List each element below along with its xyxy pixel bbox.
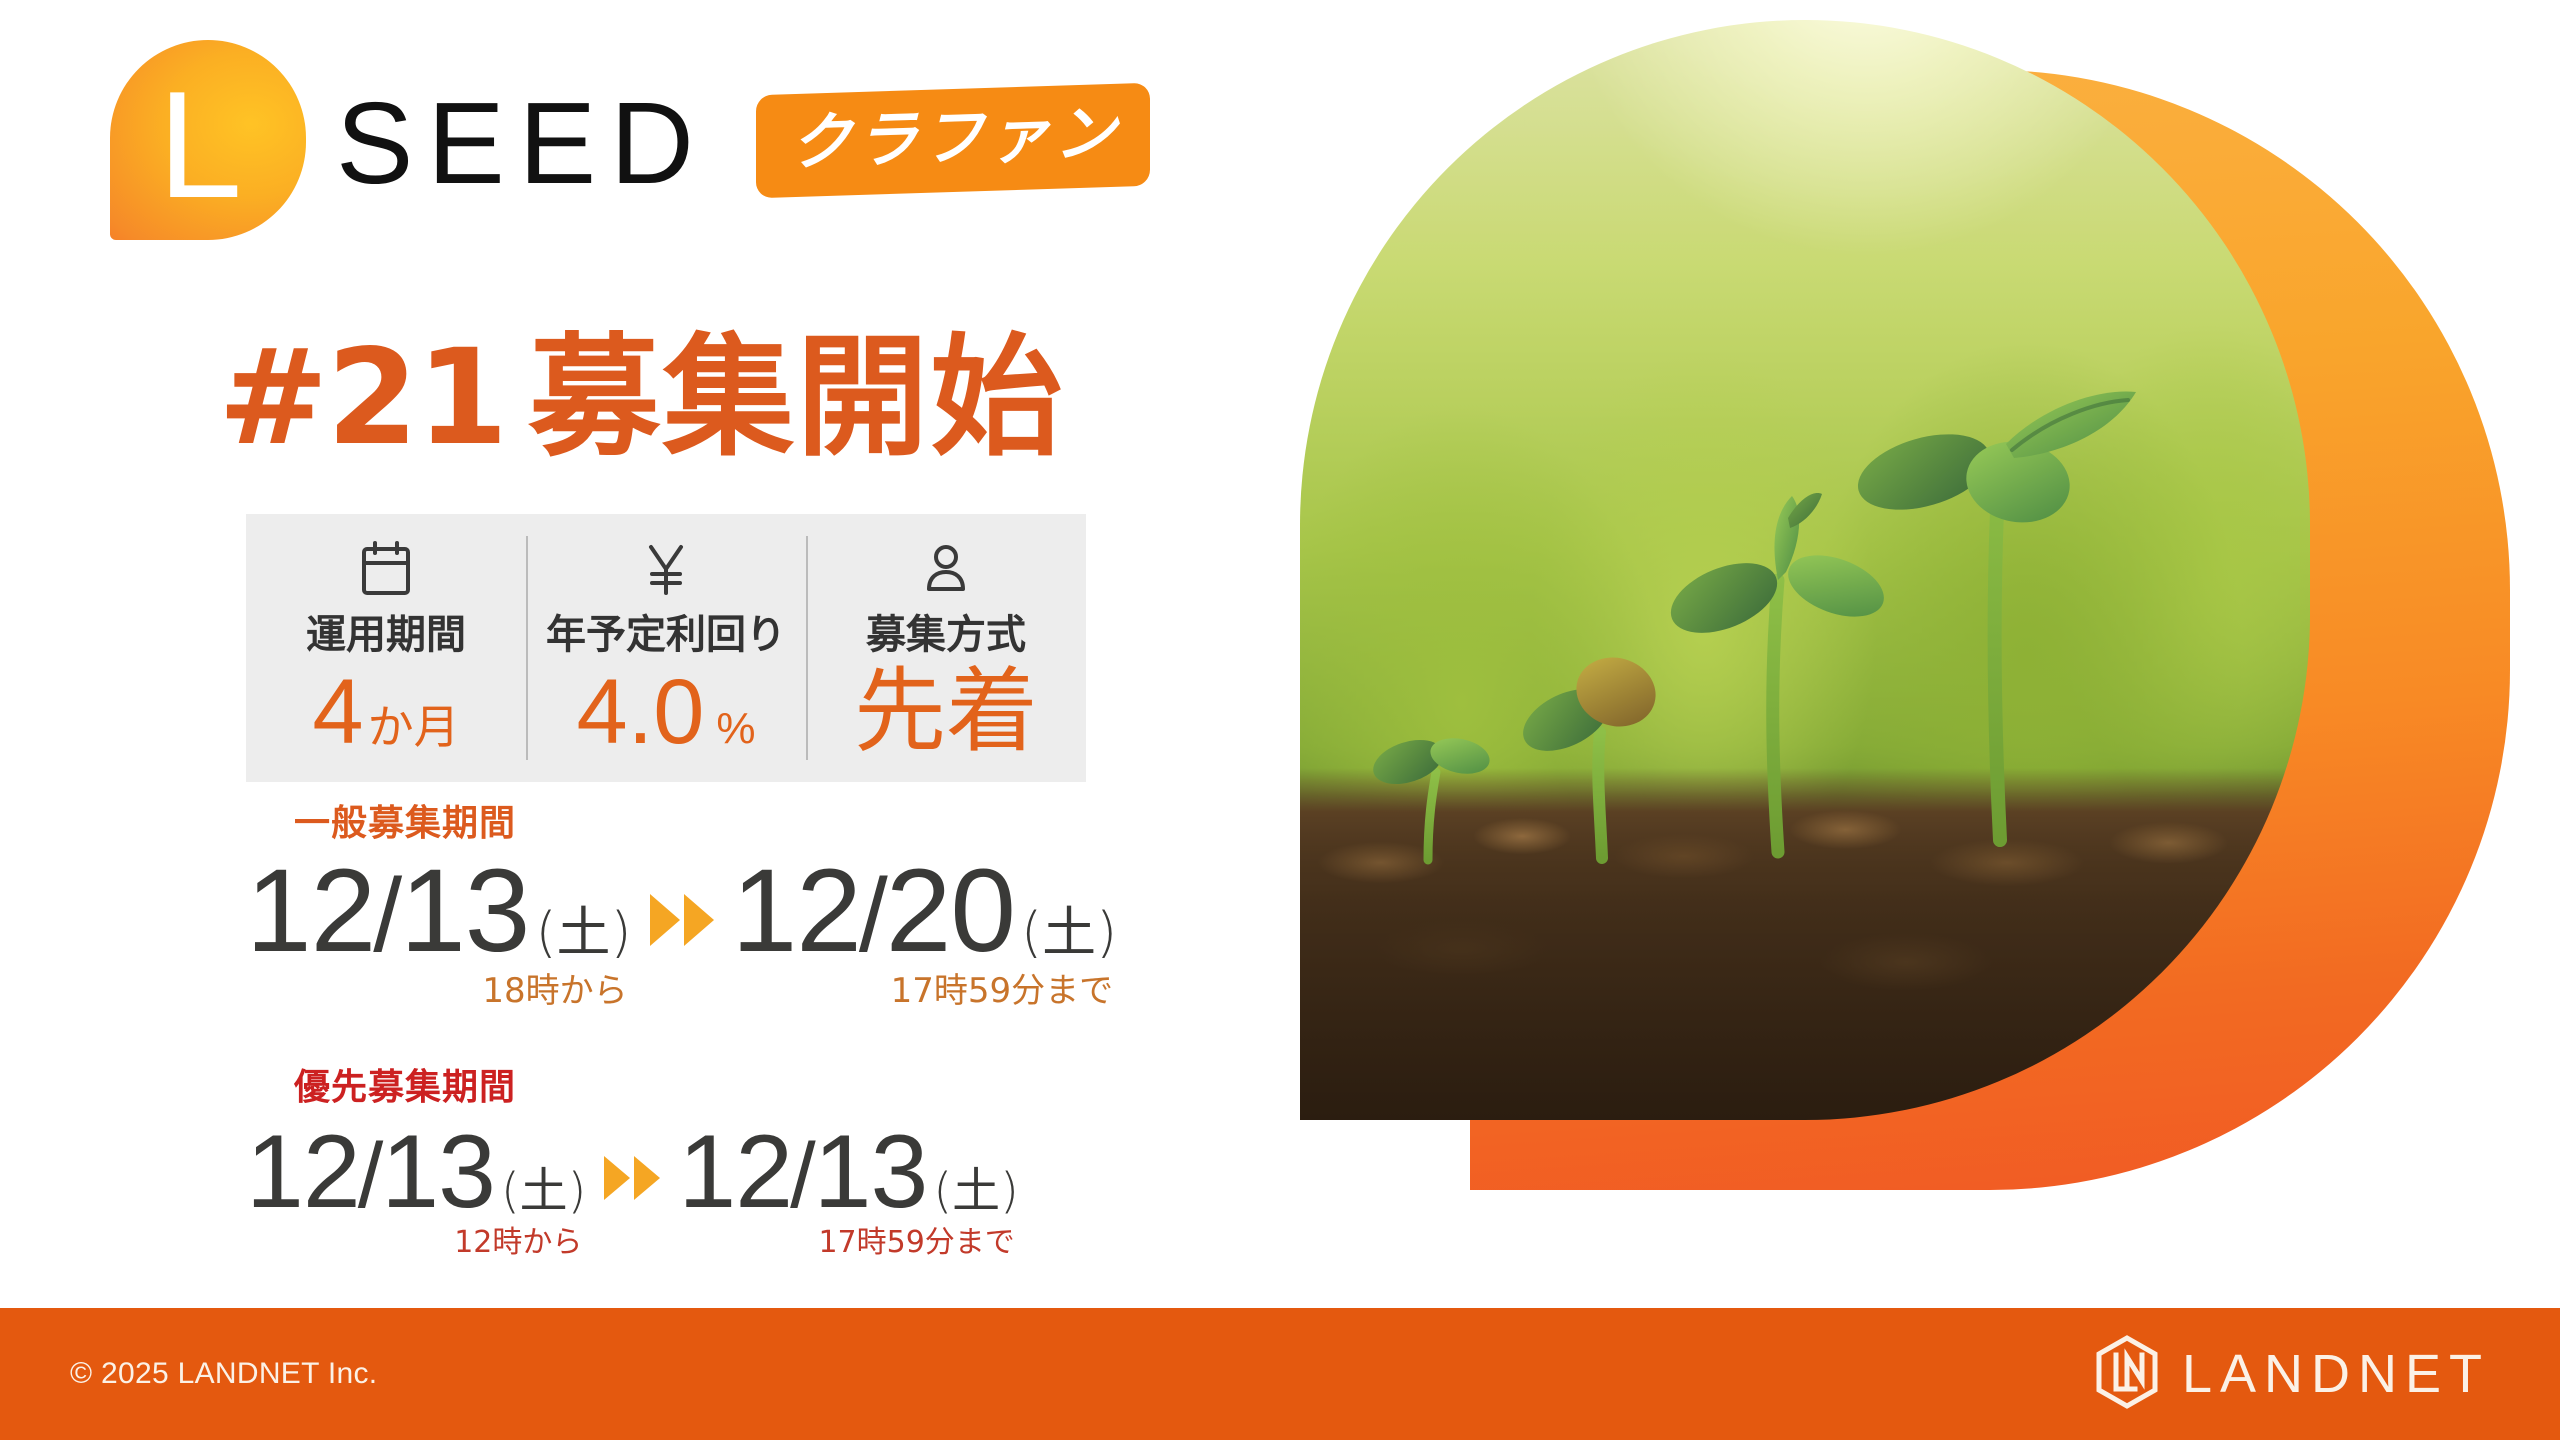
date-day: 13 (381, 1120, 495, 1224)
date-end-note: 17時59分まで (891, 974, 1114, 1008)
landnet-hexagon-icon (2094, 1335, 2160, 1414)
date-day: 13 (400, 852, 529, 970)
copyright-text: © 2025 LANDNET Inc. (70, 1357, 377, 1391)
stat-unit: か月 (368, 704, 460, 750)
person-icon (921, 540, 971, 598)
date-day: 13 (814, 1120, 928, 1224)
stat-number: 4 (312, 666, 363, 758)
seedlings-photo (1300, 20, 2310, 1120)
stats-panel: 運用期間 4 か月 年予定利回り 4.0 % (246, 514, 1086, 782)
date-slash: / (790, 1130, 816, 1222)
landnet-wordmark: LANDNET (2182, 1343, 2490, 1405)
date-end: 12 / 13 (土) 17時59分まで (678, 1120, 1018, 1258)
sprout-1 (1368, 732, 1493, 860)
stat-label: 運用期間 (306, 602, 466, 660)
stat-annual-yield: 年予定利回り 4.0 % (526, 514, 806, 782)
date-dayofweek: (土) (1021, 906, 1117, 960)
hero-artwork (1300, 20, 2520, 1210)
date-range: 12 / 13 (土) 18時から 12 / 20 (土) 17時59分まで (246, 852, 1146, 1008)
double-chevron-right-icon (650, 852, 714, 946)
period-title: 一般募集期間 (294, 806, 1146, 842)
date-end-value: 12 / 13 (土) (678, 1120, 1018, 1224)
stat-value: 4.0 % (576, 666, 755, 758)
date-start: 12 / 13 (土) 12時から (246, 1120, 586, 1258)
double-chevron-right-icon (604, 1120, 660, 1200)
seedling-group (1300, 20, 2310, 1120)
date-slash: / (859, 864, 888, 968)
logo-letter-l: L (158, 69, 243, 221)
date-start: 12 / 13 (土) 18時から (246, 852, 632, 1008)
stat-value: 4 か月 (312, 666, 459, 758)
date-month: 12 (246, 852, 375, 970)
date-range: 12 / 13 (土) 12時から 12 / 13 (土) 17時59分まで (246, 1120, 1146, 1258)
date-day: 20 (886, 852, 1015, 970)
stat-value: 先着 (854, 666, 1038, 758)
period-title: 優先募集期間 (294, 1070, 1146, 1106)
date-slash: / (358, 1130, 384, 1222)
calendar-icon (360, 540, 412, 598)
sprout-4 (1849, 391, 2136, 840)
stat-application-method: 募集方式 先着 (806, 514, 1086, 782)
sprout-2 (1513, 648, 1664, 858)
date-start-note: 18時から (482, 974, 627, 1008)
landnet-logo: LANDNET (2094, 1335, 2490, 1414)
lseed-wordmark: SEED (336, 79, 708, 201)
yen-icon (641, 540, 691, 598)
date-end-value: 12 / 20 (土) (732, 852, 1118, 970)
sprout-3 (1661, 493, 1892, 852)
date-start-value: 12 / 13 (土) (246, 852, 632, 970)
campaign-number: #21 (218, 321, 506, 475)
date-month: 12 (678, 1120, 792, 1224)
date-dayofweek: (土) (501, 1167, 586, 1215)
date-end: 12 / 20 (土) 17時59分まで (732, 852, 1118, 1008)
date-month: 12 (732, 852, 861, 970)
period-priority: 優先募集期間 12 / 13 (土) 12時から 12 / 13 (土) (246, 1070, 1146, 1258)
poster-canvas: L SEED クラファン #21募集開始 運用期間 4 か月 (0, 0, 2560, 1440)
stat-label: 年予定利回り (546, 602, 786, 660)
lseed-mark-icon: L (110, 40, 306, 240)
hero-photo-frame (1300, 20, 2310, 1120)
brand-logo: L SEED クラファン (110, 40, 1150, 240)
stat-operation-period: 運用期間 4 か月 (246, 514, 526, 782)
date-dayofweek: (土) (535, 906, 631, 960)
stat-label: 募集方式 (866, 602, 1026, 660)
date-start-note: 12時から (454, 1228, 582, 1258)
stat-number: 先着 (854, 666, 1038, 758)
date-dayofweek: (土) (933, 1167, 1018, 1215)
stat-number: 4.0 (576, 666, 704, 758)
crowdfunding-badge: クラファン (756, 82, 1150, 197)
page-title: #21募集開始 (218, 332, 1064, 464)
campaign-title-text: 募集開始 (528, 321, 1064, 475)
date-start-value: 12 / 13 (土) (246, 1120, 586, 1224)
date-end-note: 17時59分まで (818, 1228, 1014, 1258)
date-month: 12 (246, 1120, 360, 1224)
period-general: 一般募集期間 12 / 13 (土) 18時から 12 / 20 (土) (246, 806, 1146, 1008)
date-slash: / (373, 864, 402, 968)
stat-unit: % (716, 707, 755, 751)
footer-bar: © 2025 LANDNET Inc. LANDNET (0, 1308, 2560, 1440)
